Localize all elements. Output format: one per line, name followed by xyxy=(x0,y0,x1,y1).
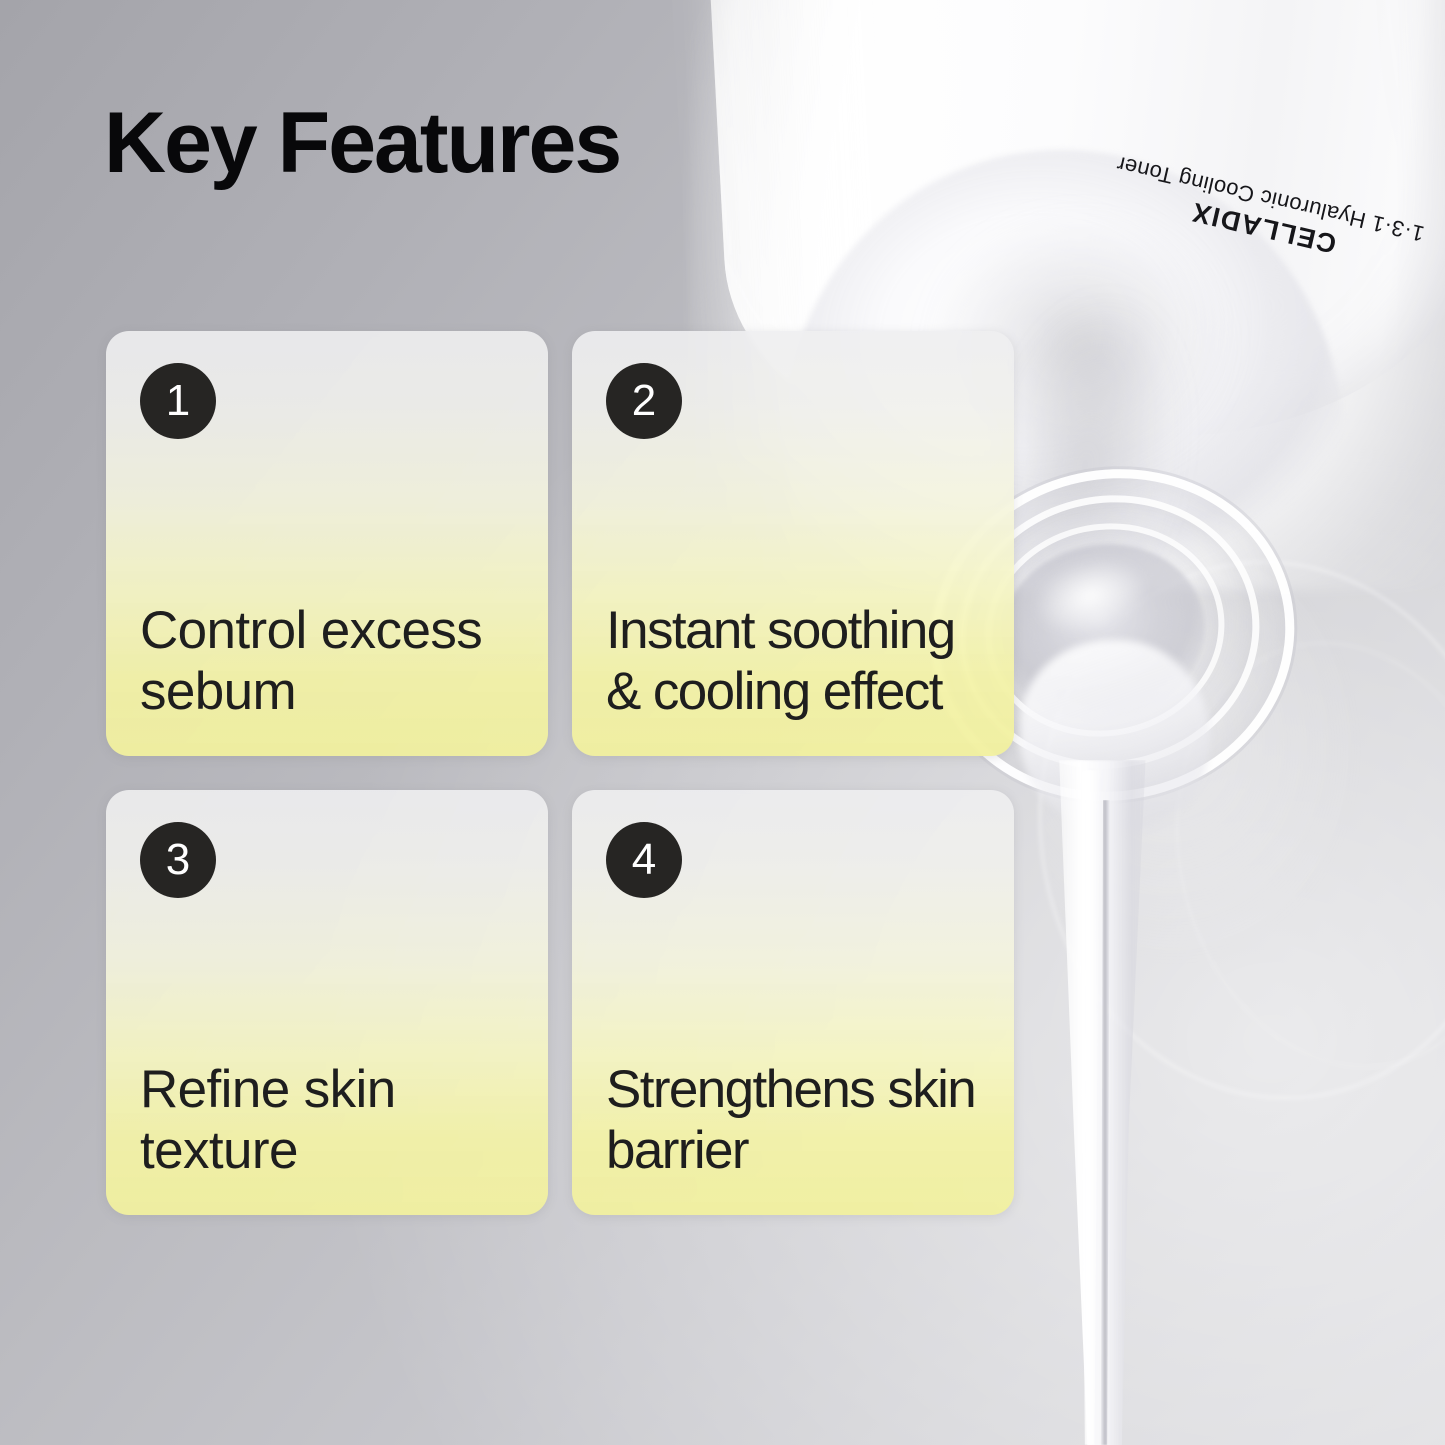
feature-card-2: 2 Instant soothing & cooling effect xyxy=(572,331,1014,756)
product-label-name: 1·3·1 Hyaluronic Cooling Toner xyxy=(1107,148,1434,248)
bottle-outline xyxy=(997,523,1445,1136)
feature-text-3: Refine skin texture xyxy=(140,1060,514,1185)
feature-text-2: Instant soothing & cooling effect xyxy=(606,601,980,726)
feature-number-badge-4: 4 xyxy=(606,822,682,898)
feature-number-badge-2: 2 xyxy=(606,363,682,439)
page-title: Key Features xyxy=(104,100,620,186)
liquid-stream-edge xyxy=(1100,800,1110,1445)
feature-number-badge-1: 1 xyxy=(140,363,216,439)
liquid-bulge xyxy=(1020,640,1210,830)
bottle-opening-highlight xyxy=(1024,545,1155,646)
key-features-slide: CELLADIX 1·3·1 Hyaluronic Cooling Toner … xyxy=(0,0,1445,1445)
product-label-brand: CELLADIX xyxy=(1100,177,1428,279)
bottle-opening xyxy=(984,526,1221,740)
product-label: CELLADIX 1·3·1 Hyaluronic Cooling Toner xyxy=(1100,9,1445,278)
feature-card-grid: 1 Control excess sebum 2 Instant soothin… xyxy=(106,331,1014,1215)
feature-text-4: Strengthens skin barrier xyxy=(606,1060,980,1185)
liquid-stream-highlight xyxy=(1076,770,1102,1445)
bottle-outline-inner xyxy=(1133,606,1445,1103)
feature-card-1: 1 Control excess sebum xyxy=(106,331,548,756)
feature-card-3: 3 Refine skin texture xyxy=(106,790,548,1215)
feature-card-4: 4 Strengthens skin barrier xyxy=(572,790,1014,1215)
pouring-liquid-stream xyxy=(1040,760,1160,1445)
feature-number-badge-3: 3 xyxy=(140,822,216,898)
feature-text-1: Control excess sebum xyxy=(140,601,514,726)
